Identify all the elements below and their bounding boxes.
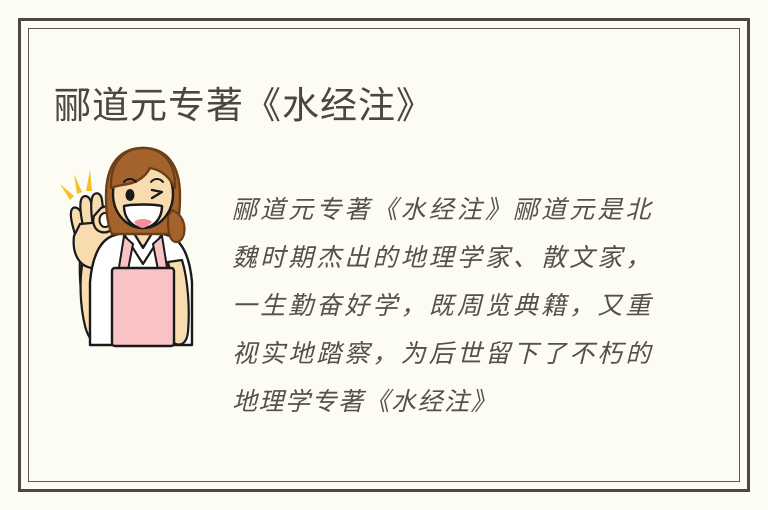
cartoon-woman-graphic — [54, 140, 214, 350]
hair-ponytail — [168, 210, 185, 242]
illustration-cartoon-woman — [54, 140, 214, 350]
document-page: 郦道元专著《水经注》 — [0, 0, 768, 510]
apron-body — [112, 268, 174, 346]
page-title: 郦道元专著《水经注》 — [54, 83, 434, 129]
eye-open-left — [126, 189, 135, 201]
content-area: 郦道元专著《水经注》郦道元是北魏时期杰出的地理学家、散文家，一生勤奋好学，既周览… — [54, 140, 694, 390]
article-body: 郦道元专著《水经注》郦道元是北魏时期杰出的地理学家、散文家，一生勤奋好学，既周览… — [232, 187, 652, 427]
